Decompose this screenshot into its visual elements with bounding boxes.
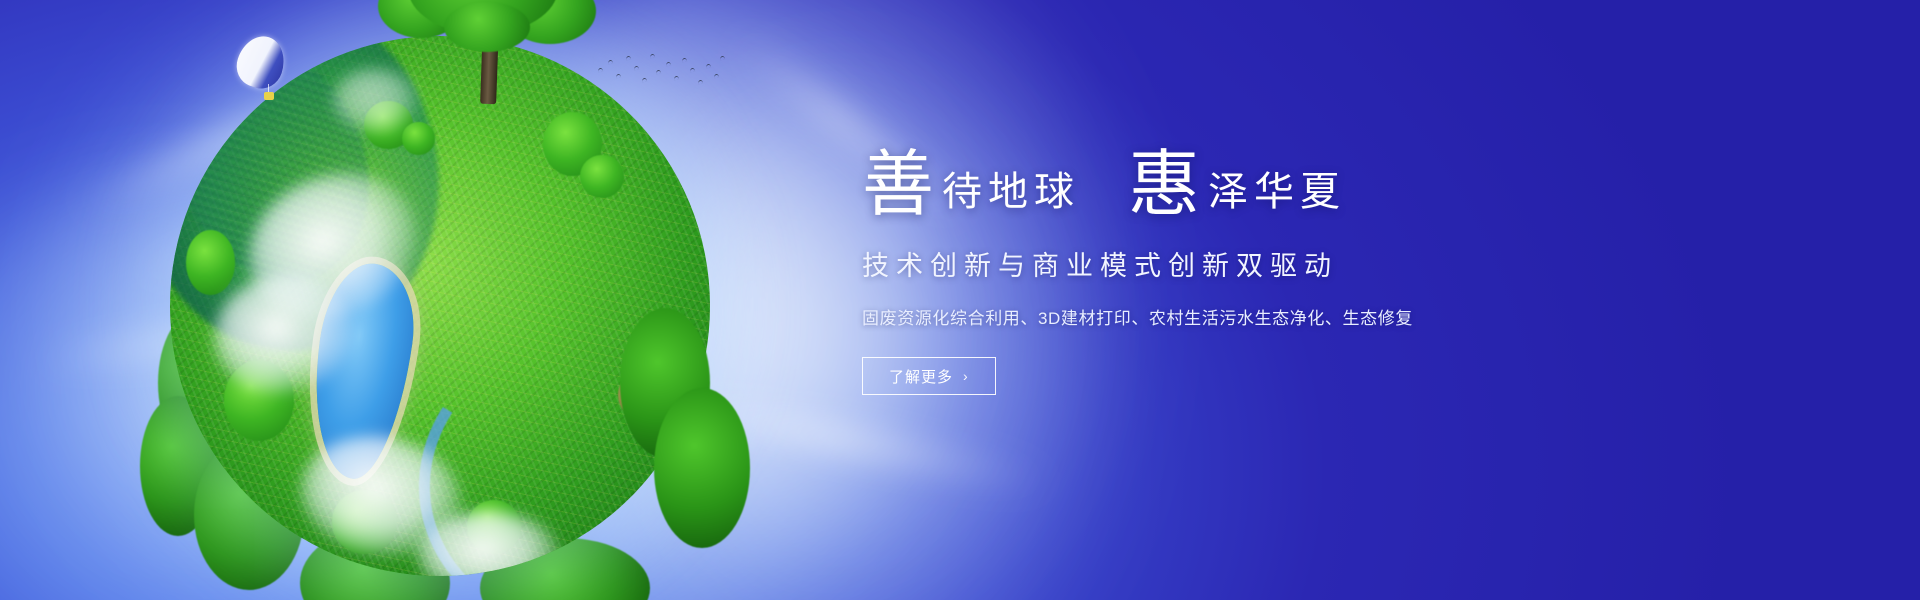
green-earth-globe — [170, 36, 710, 576]
hot-air-balloon-icon — [238, 36, 284, 104]
birds-flock-icon — [596, 50, 726, 96]
headline-part2-large: 惠 — [1128, 151, 1200, 220]
chevron-right-icon: › — [963, 368, 969, 384]
headline-part1-large: 善 — [862, 151, 934, 220]
subheadline: 技术创新与商业模式创新双驱动 — [862, 244, 1562, 283]
page-title: 善 待地球 惠 泽华夏 — [862, 128, 1562, 220]
learn-more-button[interactable]: 了解更多 › — [862, 357, 996, 395]
headline-part1-small: 待地球 — [942, 172, 1080, 220]
hero-copy: 善 待地球 惠 泽华夏 技术创新与商业模式创新双驱动 固废资源化综合利用、3D建… — [862, 128, 1562, 395]
learn-more-label: 了解更多 — [889, 366, 953, 387]
headline-part2-small: 泽华夏 — [1208, 172, 1346, 220]
tree-icon — [654, 388, 750, 548]
large-tree-icon — [378, 0, 598, 116]
hero-banner: 善 待地球 惠 泽华夏 技术创新与商业模式创新双驱动 固废资源化综合利用、3D建… — [0, 0, 1920, 600]
description-text: 固废资源化综合利用、3D建材打印、农村生活污水生态净化、生态修复 — [862, 304, 1562, 329]
